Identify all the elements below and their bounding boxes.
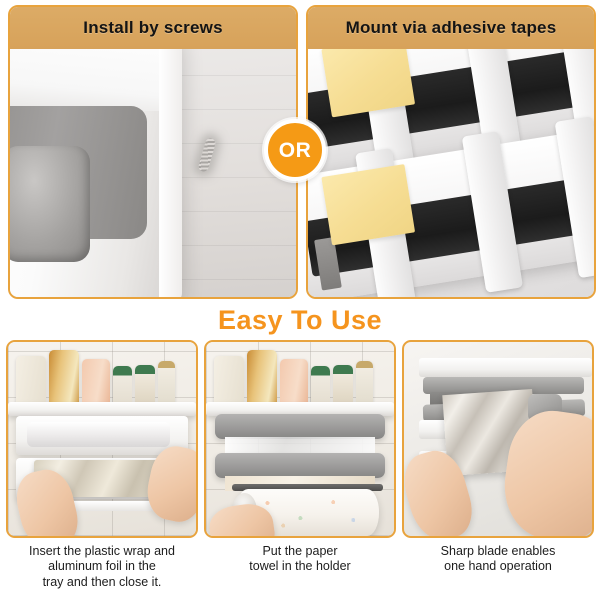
usage-step-3-caption: Sharp blade enables one hand operation: [402, 544, 594, 575]
easy-to-use-title: Easy To Use: [0, 302, 600, 338]
mount-panel-adhesive: Mount via adhesive tapes: [306, 5, 596, 299]
spice-jar: [311, 366, 330, 406]
dispenser-panel: [419, 358, 592, 377]
spice-jar: [158, 361, 176, 406]
shelf-board: [8, 402, 196, 416]
mount-panel-screws-title: Install by screws: [83, 18, 222, 38]
usage-step-1: Insert the plastic wrap and aluminum foi…: [6, 340, 198, 590]
caption-line: aluminum foil in the: [6, 559, 198, 574]
mount-panel-adhesive-title: Mount via adhesive tapes: [346, 18, 557, 38]
usage-step-1-photo: [6, 340, 198, 538]
caption-line: Insert the plastic wrap and: [6, 544, 198, 559]
bottle: [16, 356, 46, 406]
or-badge-label: OR: [279, 140, 312, 161]
adhesive-mount-photo: [308, 7, 594, 297]
caption-line: Sharp blade enables: [402, 544, 594, 559]
or-badge: OR: [264, 119, 326, 181]
usage-step-1-caption: Insert the plastic wrap and aluminum foi…: [6, 544, 198, 590]
product-infographic: Install by screws: [0, 0, 600, 600]
bottle: [214, 356, 244, 406]
screw-mount-photo: [10, 7, 296, 297]
usage-step-3-photo: [402, 340, 594, 538]
dispenser-knob: [8, 146, 90, 262]
caption-line: Put the paper: [204, 544, 396, 559]
spice-jar: [356, 361, 374, 406]
shelf-items: [210, 342, 390, 406]
spice-jar: [113, 366, 132, 406]
spice-jar: [333, 365, 352, 406]
plastic-wrap-roll: [27, 422, 170, 447]
mount-panel-screws: Install by screws: [8, 5, 298, 299]
bottle: [247, 350, 277, 406]
mount-panel-screws-header: Install by screws: [10, 7, 296, 49]
usage-step-2-photo: [204, 340, 396, 538]
cutter-rail-upper: [215, 414, 384, 439]
spice-jar: [135, 365, 154, 406]
shelf-items: [12, 342, 192, 406]
plastic-wrap-film: [225, 437, 375, 453]
usage-step-3: Sharp blade enables one hand operation: [402, 340, 594, 575]
usage-steps-section: Insert the plastic wrap and aluminum foi…: [0, 340, 600, 600]
bottle: [82, 359, 110, 406]
dispenser-edge: [159, 24, 182, 299]
bottle: [49, 350, 79, 406]
adhesive-tape-square: [321, 164, 415, 245]
usage-step-2: Put the paper towel in the holder: [204, 340, 396, 575]
bottle: [280, 359, 308, 406]
caption-line: towel in the holder: [204, 559, 396, 574]
caption-line: one hand operation: [402, 559, 594, 574]
usage-step-2-caption: Put the paper towel in the holder: [204, 544, 396, 575]
mount-panel-adhesive-header: Mount via adhesive tapes: [308, 7, 594, 49]
caption-line: tray and then close it.: [6, 575, 198, 590]
cutter-rail-lower: [215, 453, 384, 478]
mounting-options-section: Install by screws: [0, 0, 600, 300]
easy-to-use-title-text: Easy To Use: [218, 305, 382, 336]
